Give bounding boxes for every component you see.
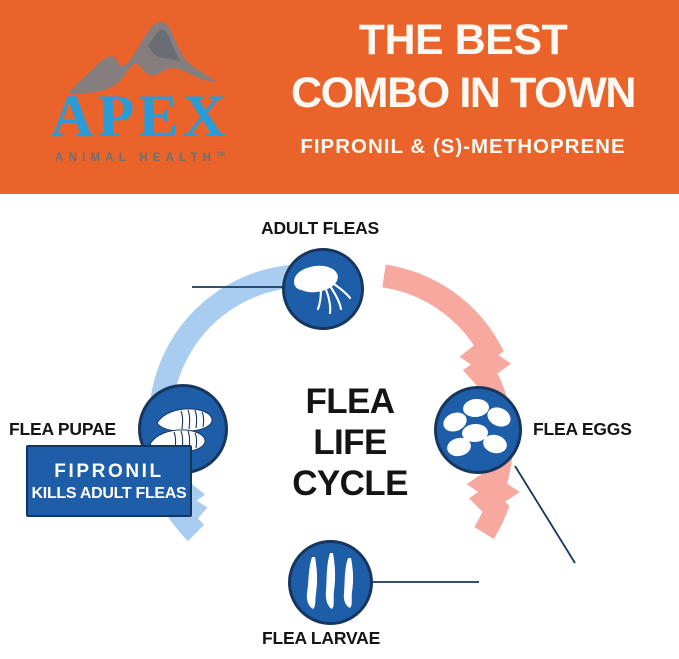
logo-tagline: ANIMAL HEALTHTM [14,152,266,164]
flea-eggs-icon [437,389,519,471]
label-flea-pupae: FLEA PUPAE [9,419,116,440]
apex-logo: APEX ANIMAL HEALTHTM [14,12,266,182]
adult-flea-icon [285,251,361,327]
logo-tagline-text: ANIMAL HEALTH [55,152,216,164]
label-flea-eggs: FLEA EGGS [533,419,632,440]
infographic-root: APEX ANIMAL HEALTHTM THE BEST COMBO IN T… [0,0,679,659]
flea-larvae-icon [291,543,370,622]
node-adult-fleas[interactable] [282,248,364,330]
headline-line-2: COMBO IN TOWN [258,66,668,120]
flea-life-cycle-diagram: ADULT FLEAS FLEA EGGS [0,194,679,659]
connector-methoprene-eggs [515,466,575,563]
logo-wordmark: APEX [14,84,266,148]
node-flea-larvae[interactable] [288,540,373,625]
label-adult-fleas: ADULT FLEAS [261,218,379,239]
label-flea-larvae: FLEA LARVAE [262,628,380,649]
logo-trademark: TM [216,152,225,158]
center-title-line-1: FLEA [255,381,445,422]
callout-fipronil-subtitle: KILLS ADULT FLEAS [28,484,190,503]
center-title: FLEA LIFE CYCLE [255,381,445,504]
callout-fipronil[interactable]: FIPRONIL KILLS ADULT FLEAS [26,445,192,517]
node-flea-eggs[interactable] [434,386,522,474]
subheadline: FIPRONIL & (S)-METHOPRENE [258,134,668,160]
headline-line-1: THE BEST [258,14,668,66]
callout-fipronil-title: FIPRONIL [28,460,190,484]
center-title-line-2: LIFE CYCLE [255,422,445,504]
header-banner: APEX ANIMAL HEALTHTM THE BEST COMBO IN T… [0,0,679,194]
header-text-block: THE BEST COMBO IN TOWN FIPRONIL & (S)-ME… [258,14,668,160]
